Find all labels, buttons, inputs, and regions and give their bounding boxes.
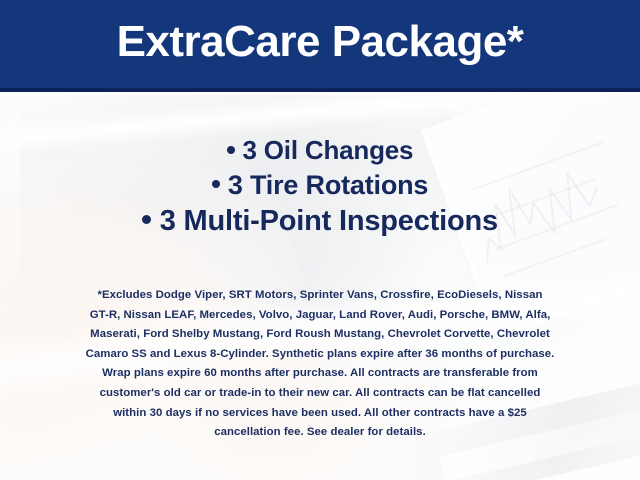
benefit-item-oil-changes: 3 Oil Changes — [0, 134, 640, 168]
page-title: ExtraCare Package* — [0, 0, 640, 88]
disclaimer-line: cancellation fee. See dealer for details… — [28, 423, 612, 443]
disclaimer-line: *Excludes Dodge Viper, SRT Motors, Sprin… — [28, 286, 612, 306]
bullet-dot-icon — [227, 146, 235, 154]
benefit-item-multi-point-inspections: 3 Multi-Point Inspections — [0, 203, 640, 241]
disclaimer-line: GT-R, Nissan LEAF, Mercedes, Volvo, Jagu… — [28, 306, 612, 326]
benefit-item-tire-rotations: 3 Tire Rotations — [0, 168, 640, 203]
disclaimer-line: within 30 days if no services have been … — [28, 404, 612, 424]
bullet-dot-icon — [212, 180, 220, 188]
benefit-label: 3 Multi-Point Inspections — [160, 205, 498, 237]
disclaimer-line: customer's old car or trade-in to their … — [28, 384, 612, 404]
benefit-label: 3 Tire Rotations — [228, 170, 428, 200]
disclaimer-line: Camaro SS and Lexus 8-Cylinder. Syntheti… — [28, 345, 612, 365]
benefits-list: 3 Oil Changes 3 Tire Rotations 3 Multi-P… — [0, 134, 640, 241]
benefit-label: 3 Oil Changes — [243, 135, 414, 165]
disclaimer-line: Maserati, Ford Shelby Mustang, Ford Rous… — [28, 325, 612, 345]
bullet-dot-icon — [142, 215, 151, 224]
disclaimer-text: *Excludes Dodge Viper, SRT Motors, Sprin… — [28, 286, 612, 443]
extracare-package-ad: ExtraCare Package* 3 Oil Changes 3 Tire … — [0, 0, 640, 480]
header-divider-rule — [0, 88, 640, 92]
disclaimer-line: Wrap plans expire 60 months after purcha… — [28, 364, 612, 384]
